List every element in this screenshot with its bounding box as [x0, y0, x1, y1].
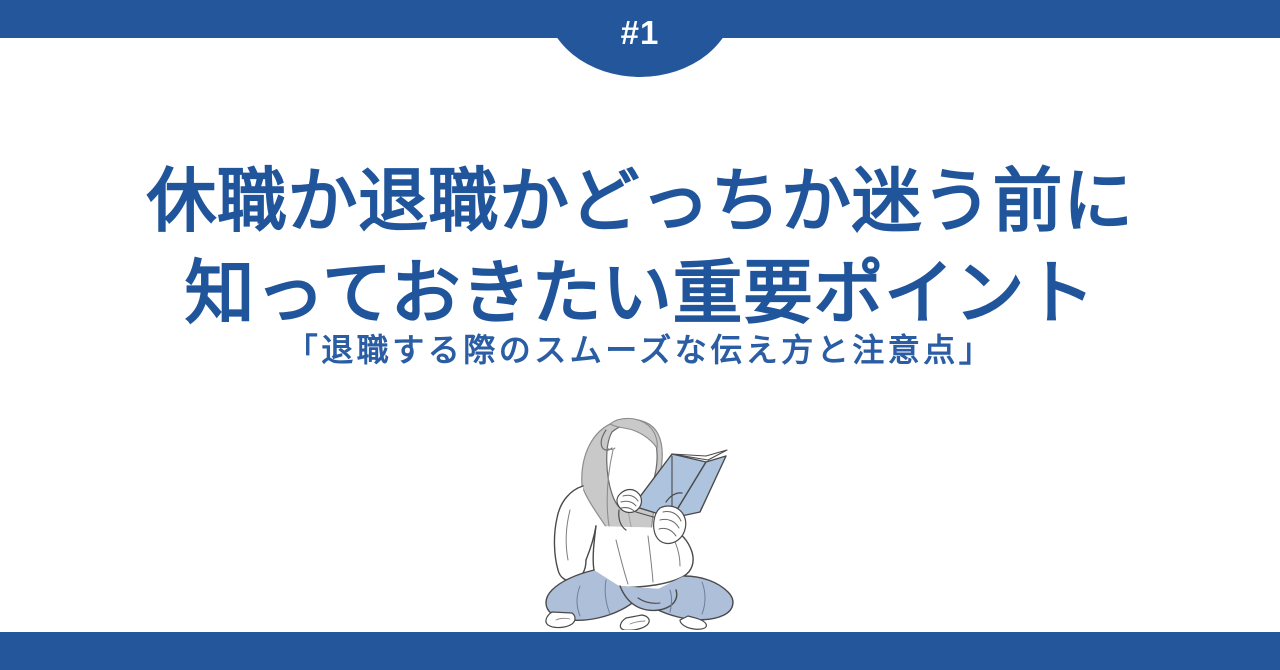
reading-woman-illustration	[520, 390, 760, 630]
page-subtitle: 「退職する際のスムーズな伝え方と注意点」	[0, 330, 1280, 372]
eyecatch-banner: #1 休職か退職かどっちか迷う前に 知っておきたい重要ポイント 「退職する際のス…	[0, 0, 1280, 670]
bottom-accent-bar	[0, 632, 1280, 670]
reading-woman-illustration-svg	[520, 390, 760, 630]
page-title-line-2: 知っておきたい重要ポイント	[0, 249, 1280, 341]
number-badge-label: #1	[621, 16, 660, 49]
page-title-line-1: 休職か退職かどっちか迷う前に	[0, 157, 1280, 249]
number-badge-tab: #1	[545, 0, 735, 77]
page-title: 休職か退職かどっちか迷う前に 知っておきたい重要ポイント	[0, 157, 1280, 342]
